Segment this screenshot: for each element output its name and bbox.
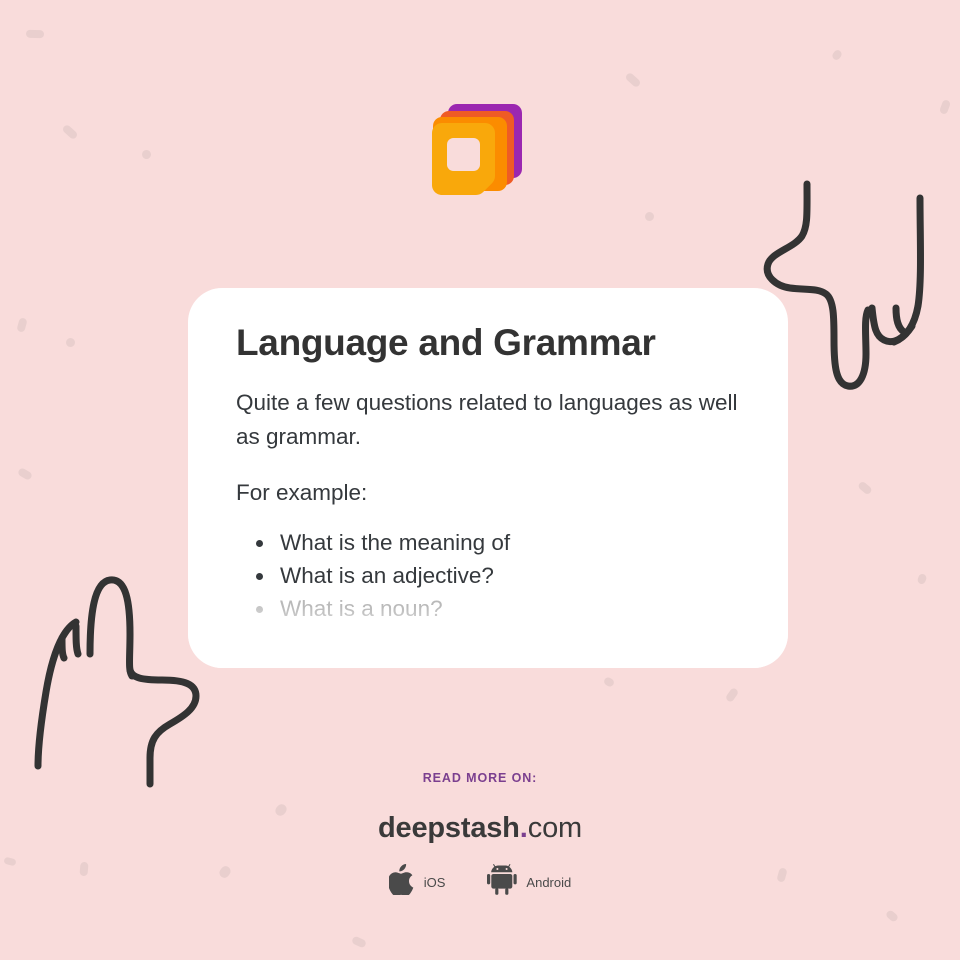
deepstash-wordmark[interactable]: deepstash.com [0, 812, 960, 845]
confetti-dash [857, 480, 873, 495]
confetti-dash [624, 72, 641, 89]
deepstash-cube-logo [420, 100, 530, 200]
poster-canvas: Language and Grammar Quite a few questio… [0, 0, 960, 960]
question-list: What is the meaning of What is an adject… [236, 526, 744, 625]
android-store-badge[interactable]: Android [487, 864, 571, 900]
page-title: Language and Grammar [236, 322, 744, 365]
wordmark-brand: deepstash [378, 812, 520, 844]
android-icon [487, 864, 517, 900]
card-content: Language and Grammar Quite a few questio… [188, 288, 788, 625]
confetti-dash [725, 687, 740, 703]
card-paragraph: Quite a few questions related to languag… [236, 386, 744, 454]
android-label: Android [526, 875, 571, 890]
list-item: What is an adjective? [276, 559, 744, 592]
confetti-dash [61, 124, 78, 141]
confetti-dash [65, 337, 75, 347]
list-item: What is the meaning of [276, 526, 744, 559]
confetti-dash [644, 211, 654, 221]
confetti-dash [17, 467, 33, 481]
apple-icon [389, 864, 415, 900]
list-item: What is a noun? [276, 592, 744, 625]
read-more-label: READ MORE ON: [0, 771, 960, 785]
confetti-dash [939, 99, 951, 115]
confetti-dash [16, 317, 27, 333]
confetti-dash [351, 935, 367, 948]
card-example-label: For example: [236, 476, 744, 510]
wordmark-tld: com [528, 812, 582, 844]
confetti-dash [885, 909, 899, 923]
confetti-dash [831, 49, 843, 62]
ios-store-badge[interactable]: iOS [389, 864, 446, 900]
confetti-dash [917, 573, 928, 585]
ios-label: iOS [424, 875, 446, 890]
content-card: Language and Grammar Quite a few questio… [188, 288, 788, 668]
confetti-dash [26, 30, 44, 39]
store-badges: iOS Android [0, 864, 960, 900]
confetti-dash [141, 149, 153, 161]
wordmark-dot: . [520, 812, 528, 844]
confetti-dash [603, 676, 616, 688]
